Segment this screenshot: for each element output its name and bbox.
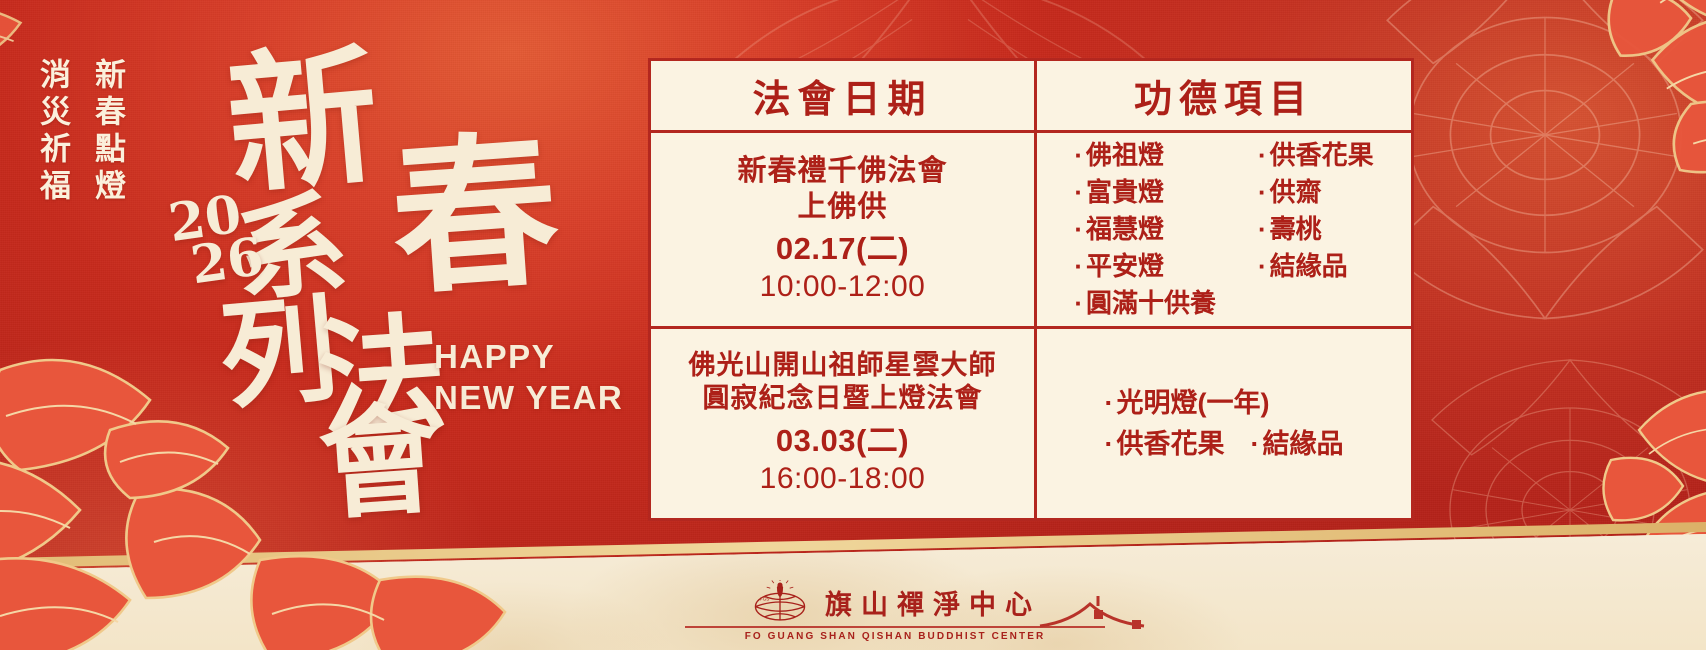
merit-item: 圓滿十供養 <box>1074 285 1216 322</box>
event-name-line-1: 新春禮千佛法會 <box>737 153 947 188</box>
event-name-line-2: 圓寂紀念日暨上燈法會 <box>689 383 997 416</box>
merit-item: 供香花果 <box>1105 424 1225 465</box>
event-block-1: 新春禮千佛法會 上佛供 02.17(二) 10:00-12:00 <box>737 153 947 305</box>
merits-column-1: 光明燈(一年) <box>1105 383 1344 424</box>
year-label: 20 26 <box>166 190 266 291</box>
header-cell-merits: 功德項目 <box>1037 61 1411 130</box>
merit-item: 光明燈(一年) <box>1105 383 1344 424</box>
event-name-line-1: 佛光山開山祖師星雲大師 <box>689 350 997 383</box>
merit-item: 富貴燈 <box>1074 174 1216 211</box>
year-bottom: 26 <box>188 235 266 289</box>
cell-event-2: 佛光山開山祖師星雲大師 圓寂紀念日暨上燈法會 03.03(二) 16:00-18… <box>651 329 1037 518</box>
table-row: 新春禮千佛法會 上佛供 02.17(二) 10:00-12:00 佛祖燈 富貴燈… <box>651 133 1411 329</box>
slogan-line-left: 消災祈福 <box>30 58 75 206</box>
event-date-1: 02.17(二) <box>737 230 947 268</box>
header-label-merits: 功德項目 <box>1134 68 1314 123</box>
svg-text:FGS: FGS <box>760 596 769 601</box>
merit-item: 平安燈 <box>1074 248 1216 285</box>
merit-item: 福慧燈 <box>1074 211 1216 248</box>
header-label-date: 法會日期 <box>752 68 932 123</box>
center-name-cn: 旗山禪淨中心 <box>825 583 1041 622</box>
greeting-line-1: HAPPY <box>434 336 623 377</box>
greeting-line-2: NEW YEAR <box>434 377 623 418</box>
schedule-table: 法會日期 功德項目 新春禮千佛法會 上佛供 02.17(二) 10:00-12:… <box>648 58 1414 521</box>
center-name-en: FO GUANG SHAN QISHAN BUDDHIST CENTER <box>745 631 1046 642</box>
new-year-dharma-poster: 新春點燈 消災祈福 新 春 系 列 法 會 20 26 HAPPY NEW YE… <box>0 0 1706 650</box>
vertical-slogan: 新春點燈 消災祈福 <box>30 58 130 206</box>
happy-new-year-text: HAPPY NEW YEAR <box>434 336 623 419</box>
merit-item: 結緣品 <box>1258 248 1374 285</box>
event-block-2: 佛光山開山祖師星雲大師 圓寂紀念日暨上燈法會 03.03(二) 16:00-18… <box>689 350 997 497</box>
headline-char-chun: 春 <box>387 134 563 298</box>
table-row: 佛光山開山祖師星雲大師 圓寂紀念日暨上燈法會 03.03(二) 16:00-18… <box>651 329 1411 518</box>
merit-item: 供香花果 <box>1258 137 1374 174</box>
footer-divider <box>685 626 1105 628</box>
merits-block-2: 光明燈(一年) 供香花果 結緣品 <box>1105 383 1344 464</box>
fo-guang-shan-logo-icon: FGS <box>749 580 811 624</box>
merit-item: 壽桃 <box>1258 211 1374 248</box>
merit-item: 佛祖燈 <box>1074 137 1216 174</box>
footer-branding: FGS 旗山禪淨中心 FO GUANG SHAN QISHAN BUDDHIST… <box>0 580 1706 642</box>
merits-column-2: 供香花果 供齋 壽桃 結緣品 <box>1258 137 1374 322</box>
event-time-1: 10:00-12:00 <box>737 269 947 306</box>
merits-column-1: 佛祖燈 富貴燈 福慧燈 平安燈 圓滿十供養 <box>1074 137 1216 322</box>
cell-event-1: 新春禮千佛法會 上佛供 02.17(二) 10:00-12:00 <box>651 133 1037 326</box>
header-cell-date: 法會日期 <box>651 61 1037 130</box>
merit-item: 供齋 <box>1258 174 1374 211</box>
cell-merits-1: 佛祖燈 富貴燈 福慧燈 平安燈 圓滿十供養 供香花果 供齋 壽桃 結緣品 <box>1037 133 1411 326</box>
merits-inline-row: 供香花果 結緣品 <box>1105 424 1344 465</box>
headline-char-xin: 新 <box>222 46 383 197</box>
slogan-line-right: 新春點燈 <box>85 58 130 206</box>
event-time-2: 16:00-18:00 <box>689 461 997 498</box>
event-date-2: 03.03(二) <box>689 422 997 460</box>
cell-merits-2: 光明燈(一年) 供香花果 結緣品 <box>1037 329 1411 518</box>
table-header-row: 法會日期 功德項目 <box>651 61 1411 133</box>
headline-char-hui: 會 <box>316 404 443 522</box>
merit-item: 結緣品 <box>1251 424 1344 465</box>
merits-block-1: 佛祖燈 富貴燈 福慧燈 平安燈 圓滿十供養 供香花果 供齋 壽桃 結緣品 <box>1074 137 1373 322</box>
event-name-line-2: 上佛供 <box>737 189 947 224</box>
